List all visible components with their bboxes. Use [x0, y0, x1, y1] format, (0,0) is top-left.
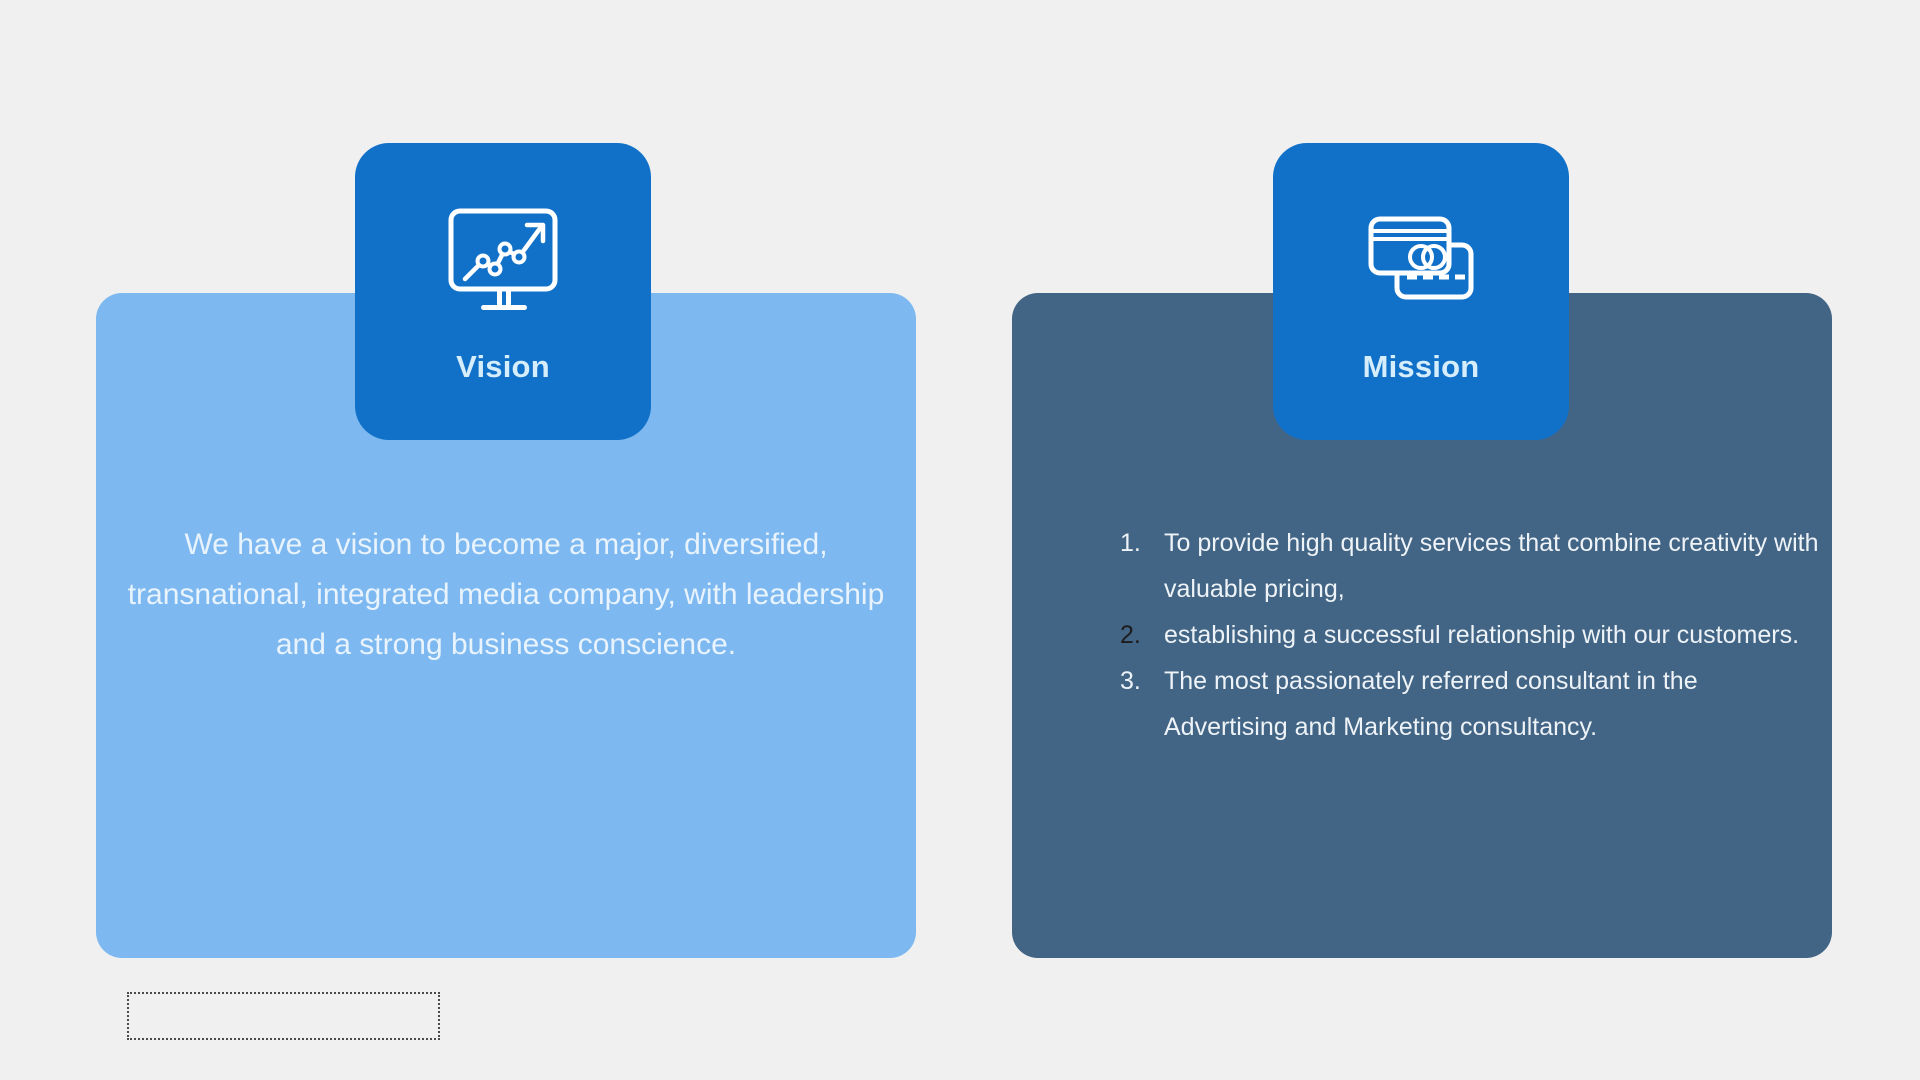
vision-body-text: We have a vision to become a major, dive… [120, 520, 892, 670]
list-item-text: To provide high quality services that co… [1164, 520, 1820, 612]
credit-cards-icon [1361, 205, 1481, 317]
vision-badge[interactable]: Vision [355, 143, 651, 440]
list-item-marker: 3. [1120, 658, 1164, 704]
mission-list: 1. To provide high quality services that… [1120, 520, 1820, 750]
monitor-line-chart-icon [443, 205, 563, 317]
mission-badge[interactable]: Mission [1273, 143, 1569, 440]
list-item-text: establishing a successful relationship w… [1164, 612, 1820, 658]
list-item: 1. To provide high quality services that… [1120, 520, 1820, 612]
list-item-text: The most passionately referred consultan… [1164, 658, 1820, 750]
mission-badge-label: Mission [1363, 351, 1480, 382]
slide-canvas: We have a vision to become a major, dive… [0, 0, 1920, 1080]
empty-text-placeholder[interactable] [127, 992, 440, 1040]
list-item: 3. The most passionately referred consul… [1120, 658, 1820, 750]
list-item-marker: 1. [1120, 520, 1164, 566]
vision-badge-label: Vision [456, 351, 550, 382]
list-item: 2. establishing a successful relationshi… [1120, 612, 1820, 658]
list-item-marker: 2. [1120, 612, 1164, 658]
